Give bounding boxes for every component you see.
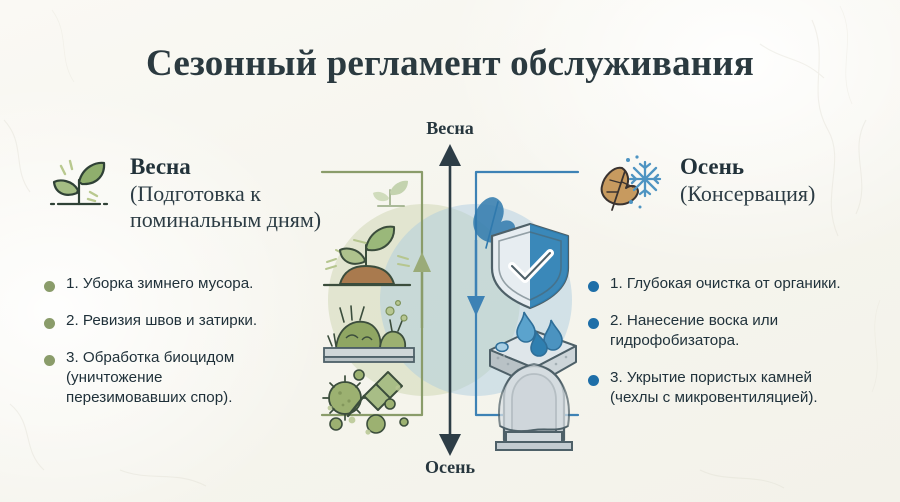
autumn-task-list: 1. Глубокая очистка от органики. 2. Нане… (588, 274, 900, 425)
bullet-dot (588, 375, 599, 386)
page-title: Сезонный регламент обслуживания (0, 42, 900, 85)
list-item: 1. Уборка зимнего мусора. (44, 274, 344, 294)
bullet-dot (588, 318, 599, 329)
list-item: 2. Ревизия швов и затирки. (44, 311, 344, 331)
autumn-header: Осень (Консервация) (592, 152, 892, 226)
maple-leaf-snowflake-icon (592, 152, 666, 226)
axis-bottom-label: Осень (0, 457, 900, 478)
spring-task-list: 1. Уборка зимнего мусора. 2. Ревизия шво… (44, 274, 344, 425)
list-item-label: 2. Ревизия швов и затирки. (66, 311, 257, 331)
list-item: 1. Глубокая очистка от органики. (588, 274, 900, 294)
autumn-heading: Осень (680, 154, 815, 180)
list-item-label: 1. Уборка зимнего мусора. (66, 274, 253, 294)
axis-top-label: Весна (0, 118, 900, 139)
arrow-up-icon (439, 144, 461, 166)
list-item-label: 1. Глубокая очистка от органики. (610, 274, 841, 294)
autumn-subheading: (Консервация) (680, 181, 815, 207)
bullet-dot (44, 318, 55, 329)
infographic-canvas: Сезонный регламент обслуживания (0, 0, 900, 502)
water-drop (496, 343, 508, 352)
bullet-dot (588, 281, 599, 292)
list-item: 2. Нанесение воска или гидрофобизатора. (588, 311, 900, 351)
sprout-icon (42, 152, 116, 226)
spores-and-dropper-icon (323, 370, 408, 435)
season-axis (410, 140, 490, 460)
bullet-dot (44, 281, 55, 292)
list-item-label: 3. Укрытие пористых камней (чехлы с микр… (610, 368, 818, 408)
list-item: 3. Укрытие пористых камней (чехлы с микр… (588, 368, 900, 408)
list-item-label: 3. Обработка биоцидом (уничтожение перез… (66, 348, 234, 408)
small-sprout-icon (373, 181, 408, 206)
list-item-label: 2. Нанесение воска или гидрофобизатора. (610, 311, 778, 351)
bullet-dot (44, 355, 55, 366)
spring-subheading: (Подготовка к поминальным дням) (130, 181, 321, 234)
list-item: 3. Обработка биоцидом (уничтожение перез… (44, 348, 344, 408)
arrow-down-icon (439, 434, 461, 456)
spring-heading: Весна (130, 154, 321, 180)
